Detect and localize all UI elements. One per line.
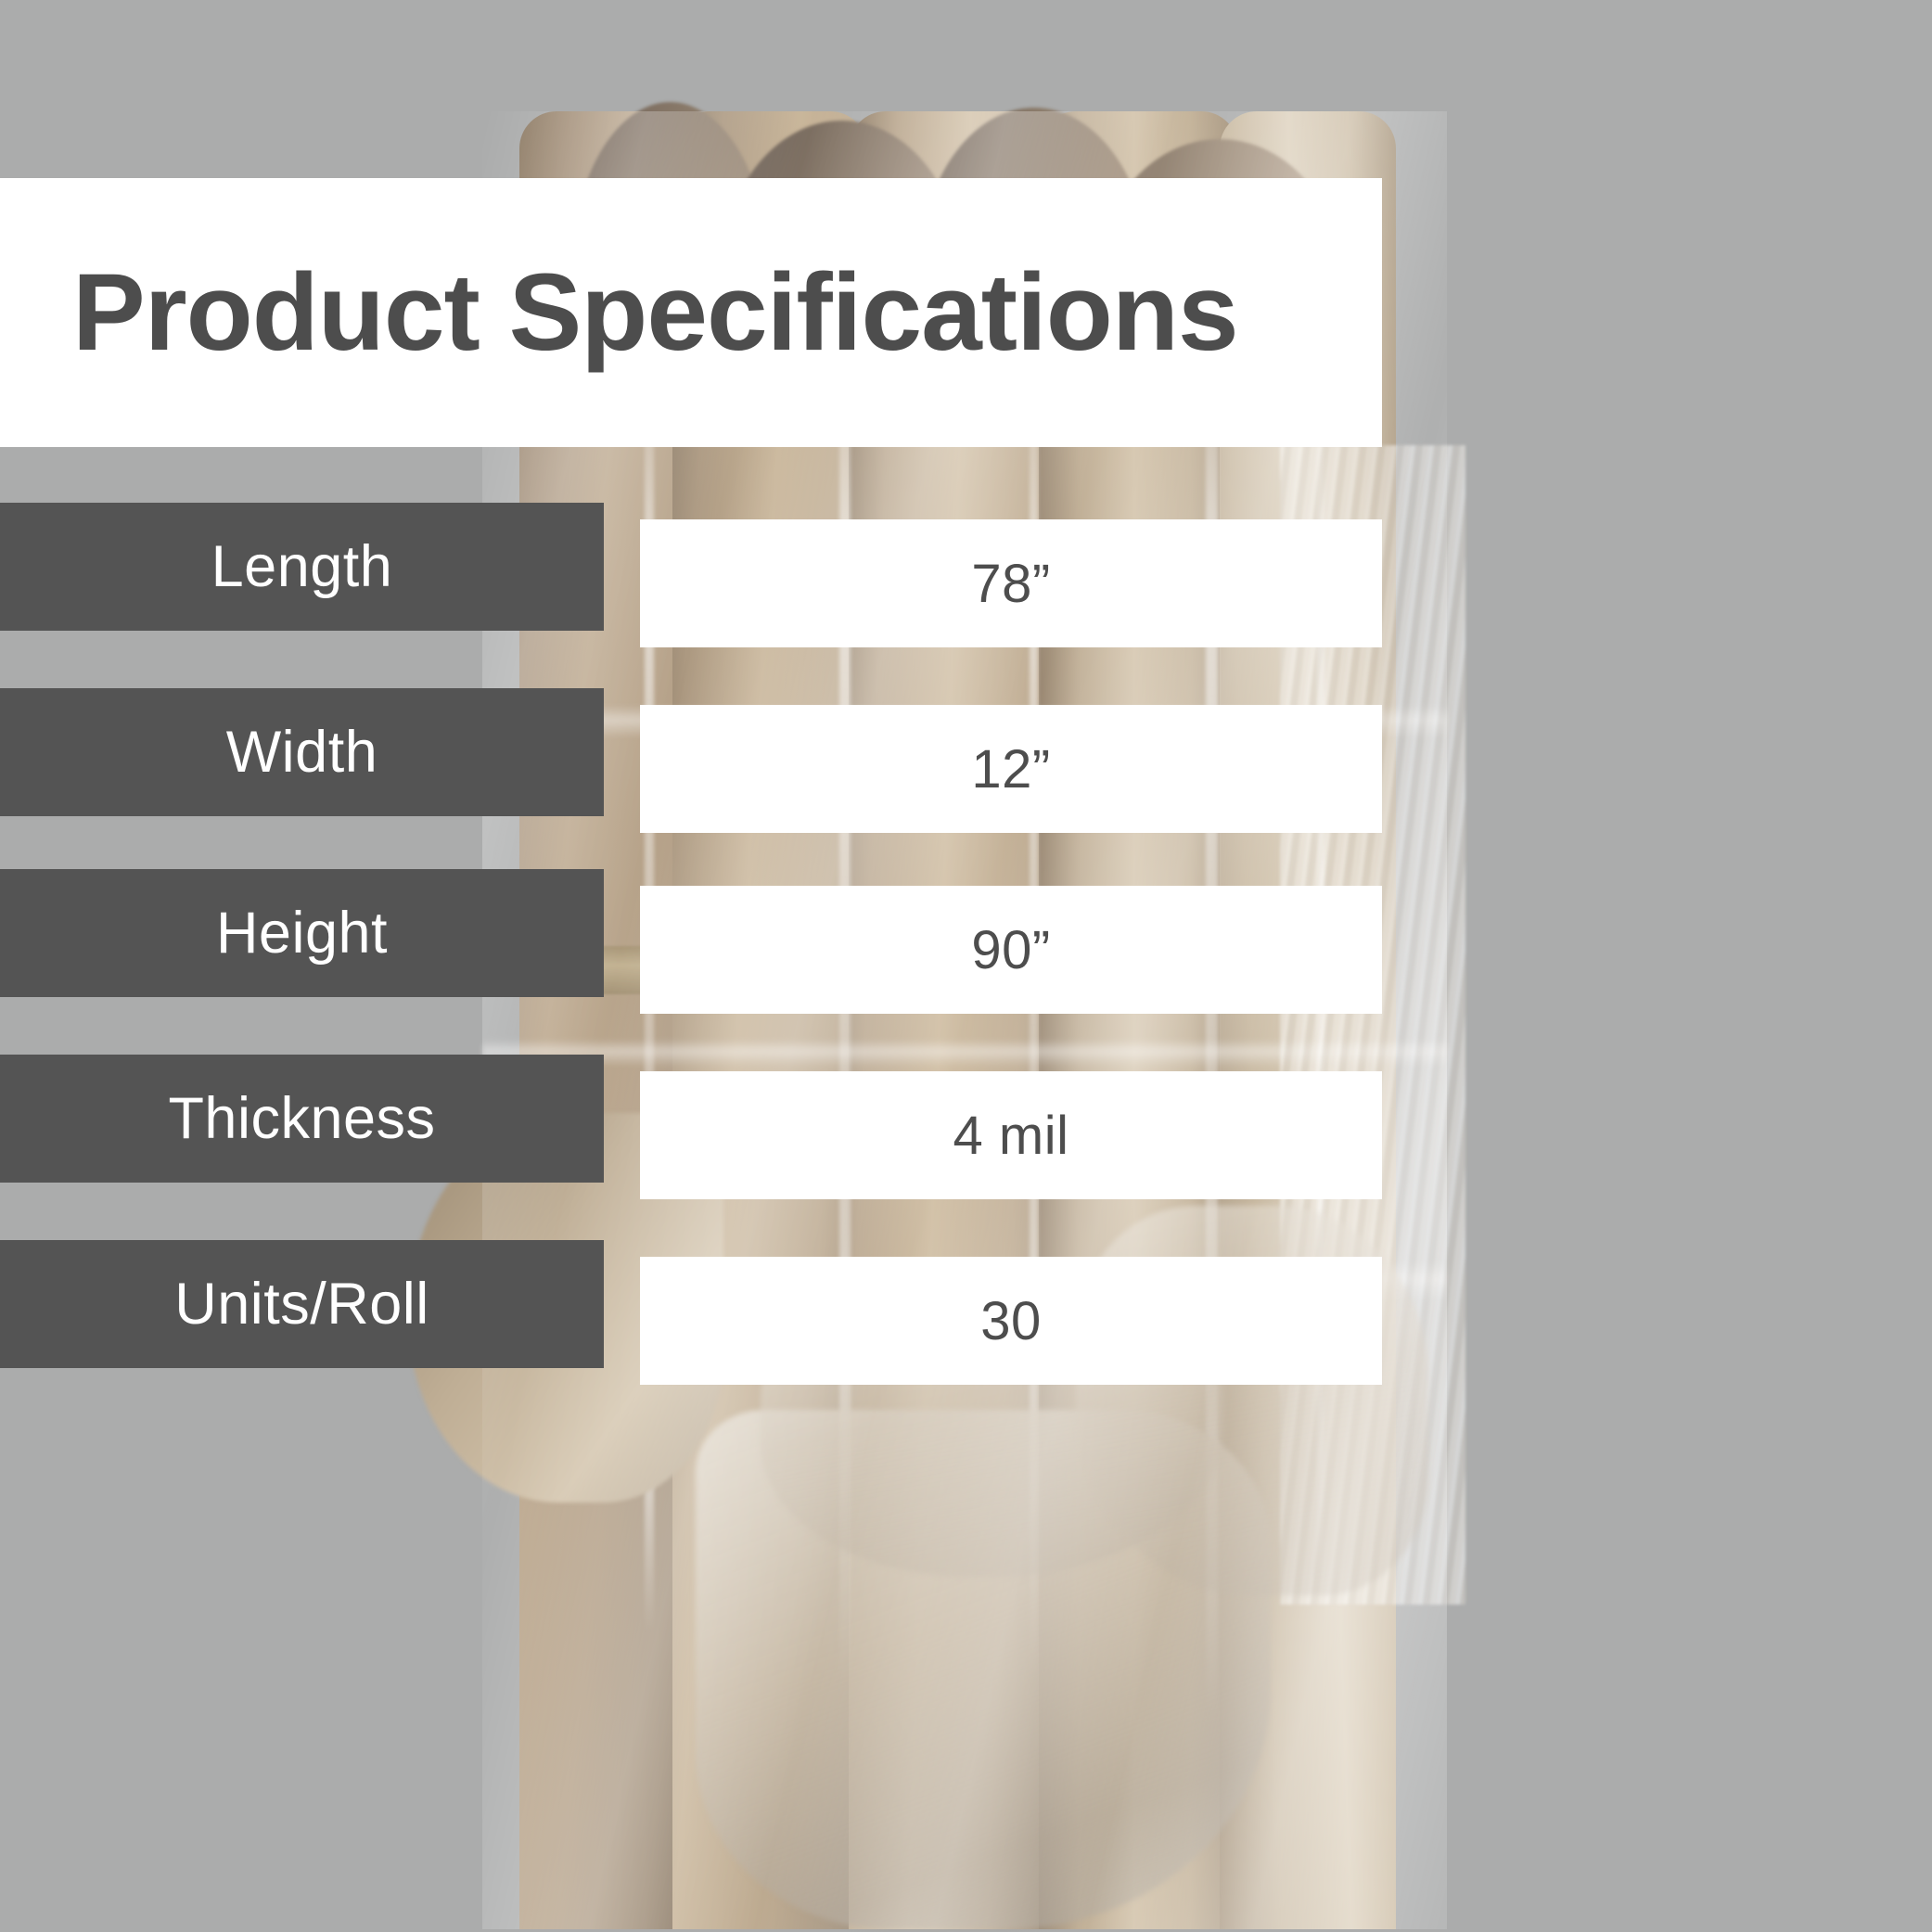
spec-label: Width bbox=[226, 719, 378, 786]
spec-value: 12” bbox=[971, 738, 1050, 800]
spec-value-cell: 90” bbox=[640, 886, 1382, 1014]
spec-label-cell: Thickness bbox=[0, 1055, 604, 1183]
spec-value-cell: 12” bbox=[640, 705, 1382, 833]
spec-label-cell: Length bbox=[0, 503, 604, 631]
spec-label: Units/Roll bbox=[174, 1271, 429, 1337]
spec-label: Height bbox=[216, 900, 388, 966]
spec-value: 78” bbox=[971, 553, 1050, 615]
spec-value-cell: 78” bbox=[640, 519, 1382, 647]
page-title: Product Specifications bbox=[72, 249, 1238, 376]
spec-label-cell: Width bbox=[0, 688, 604, 816]
title-banner: Product Specifications bbox=[0, 178, 1382, 447]
spec-value: 30 bbox=[980, 1290, 1042, 1352]
spec-value-cell: 30 bbox=[640, 1257, 1382, 1385]
spec-value: 4 mil bbox=[953, 1105, 1069, 1167]
spec-value: 90” bbox=[971, 919, 1050, 981]
spec-value-cell: 4 mil bbox=[640, 1071, 1382, 1199]
spec-label-cell: Height bbox=[0, 869, 604, 997]
spec-label-cell: Units/Roll bbox=[0, 1240, 604, 1368]
spec-label: Length bbox=[211, 533, 393, 600]
spec-label: Thickness bbox=[168, 1085, 435, 1152]
